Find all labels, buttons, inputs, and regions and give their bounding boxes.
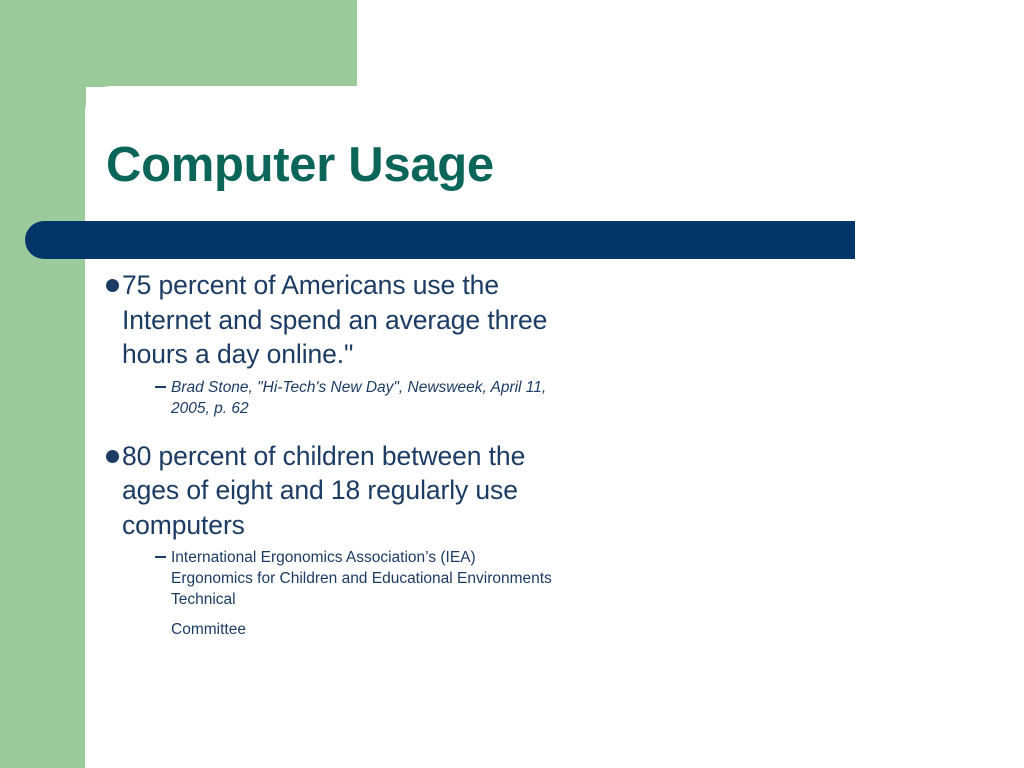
slide-body: 75 percent of Americans use the Internet… <box>86 268 556 644</box>
bullet-text: 75 percent of Americans use the Internet… <box>122 268 556 372</box>
green-side-strip <box>0 86 86 768</box>
page-title: Computer Usage <box>106 136 494 194</box>
spacer <box>86 423 556 439</box>
list-item: International Ergonomics Association’s (… <box>86 547 556 640</box>
citation-text: International Ergonomics Association’s (… <box>171 549 552 608</box>
citation-text: Brad Stone, "Hi-Tech's New Day", Newswee… <box>171 377 556 419</box>
bullet-text: 80 percent of children between the ages … <box>122 439 556 543</box>
round-bullet-icon <box>86 439 122 463</box>
citation-list: Brad Stone, "Hi-Tech's New Day", Newswee… <box>86 377 556 419</box>
green-header-block <box>0 0 357 87</box>
dash-bullet-icon <box>86 377 171 388</box>
citation-list: International Ergonomics Association’s (… <box>86 547 556 640</box>
citation-text-continued: Committee <box>171 619 556 640</box>
citation-block: International Ergonomics Association’s (… <box>171 547 556 640</box>
dash-bullet-icon <box>86 547 171 558</box>
list-item: 80 percent of children between the ages … <box>86 439 556 641</box>
list-item: 75 percent of Americans use the Internet… <box>86 268 556 419</box>
list-item: Brad Stone, "Hi-Tech's New Day", Newswee… <box>86 377 556 419</box>
navy-divider-bar <box>25 221 855 259</box>
presentation-slide: Computer Usage 75 percent of Americans u… <box>0 0 1024 768</box>
round-bullet-icon <box>86 268 122 292</box>
